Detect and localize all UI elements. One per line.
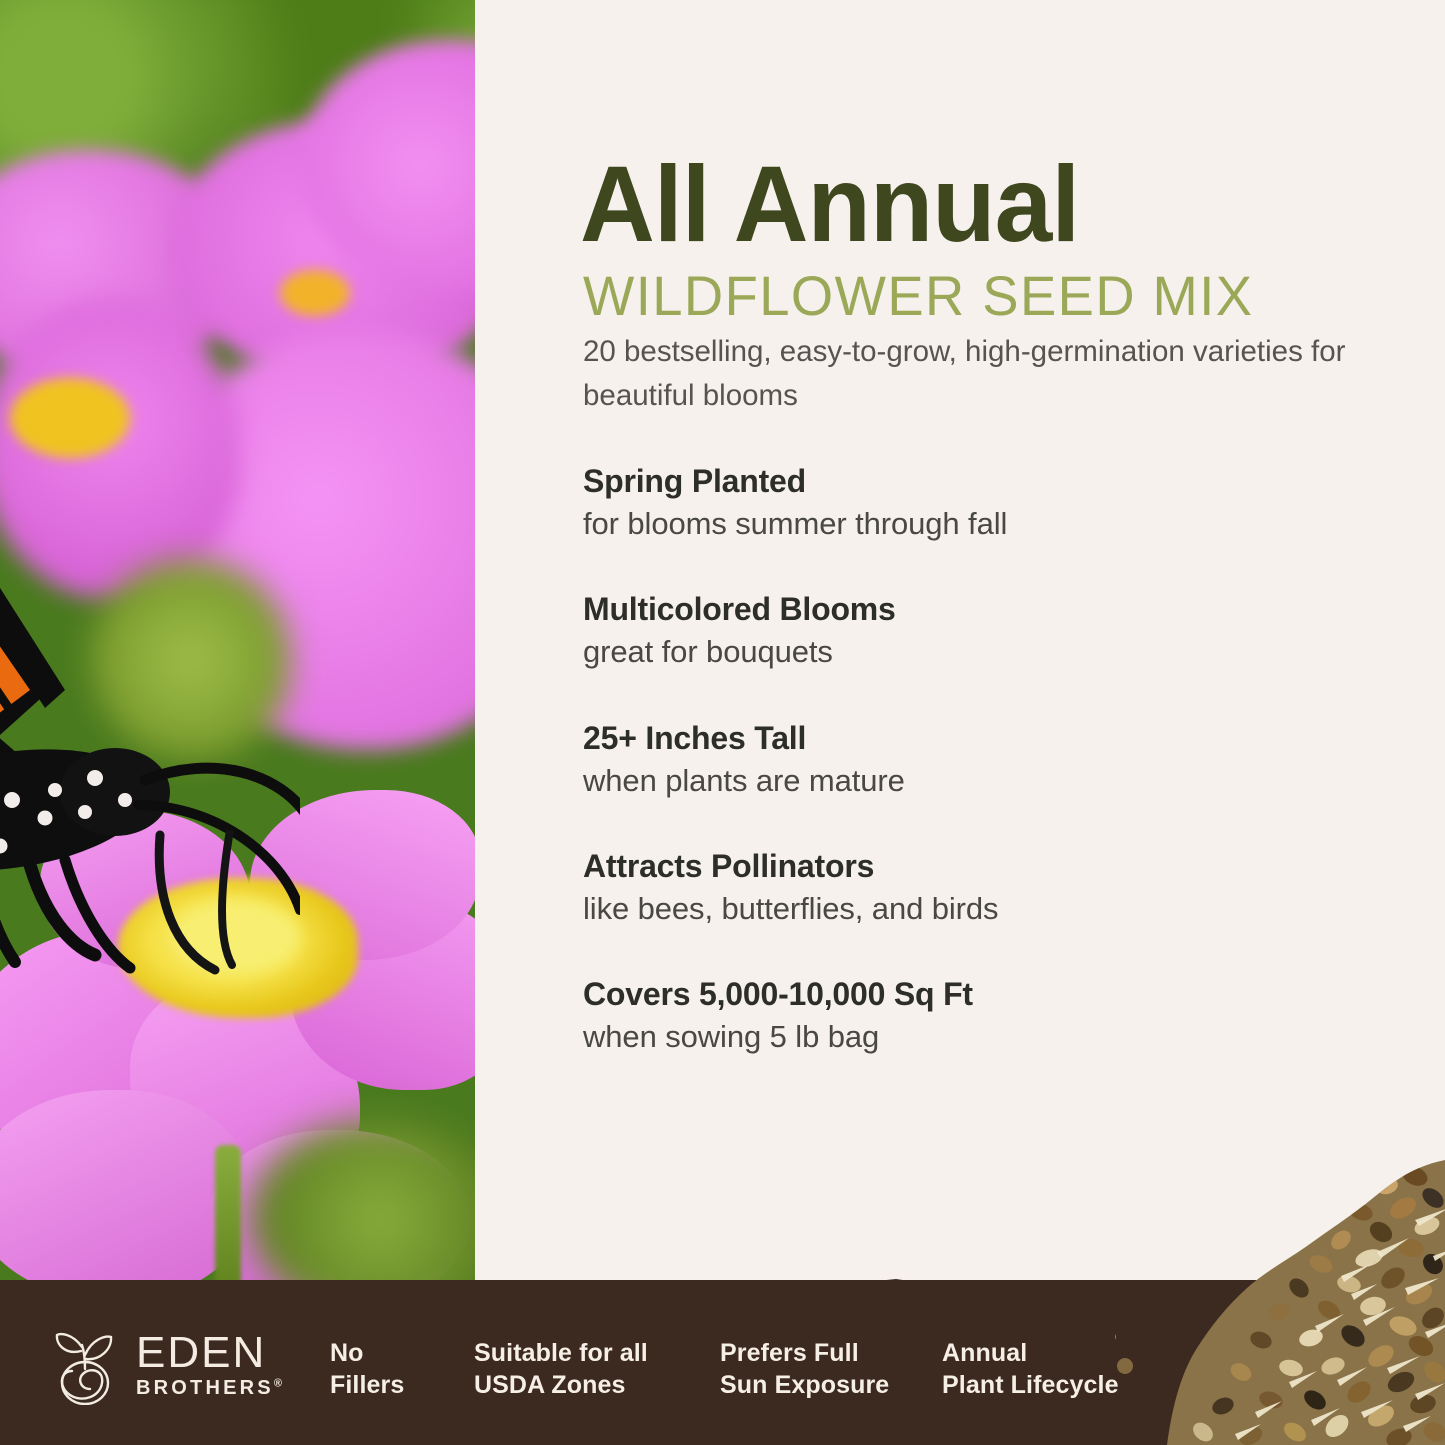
page-title: All Annual: [580, 150, 1386, 258]
footer-badge: Prefers Full Sun Exposure: [720, 1337, 889, 1401]
footer-badge: Annual Plant Lifecycle: [942, 1337, 1119, 1401]
registered-mark: ®: [274, 1377, 282, 1389]
badge-line-2: Fillers: [330, 1369, 404, 1401]
feature-item: Attracts Pollinators like bees, butterfl…: [583, 847, 1363, 929]
badge-line-2: USDA Zones: [474, 1369, 648, 1401]
feature-heading: Covers 5,000-10,000 Sq Ft: [583, 975, 1363, 1014]
brand-subname-text: BROTHERS: [136, 1377, 274, 1399]
badge-line-2: Plant Lifecycle: [942, 1369, 1119, 1401]
feature-subtext: great for bouquets: [583, 632, 1363, 672]
feature-heading: Multicolored Blooms: [583, 590, 1363, 629]
badge-line-1: No: [330, 1339, 364, 1367]
badge-line-1: Prefers Full: [720, 1339, 859, 1367]
feature-item: Multicolored Blooms great for bouquets: [583, 590, 1363, 672]
feature-heading: 25+ Inches Tall: [583, 719, 1363, 758]
product-infographic: All Annual WILDFLOWER SEED MIX 20 bestse…: [0, 0, 1445, 1445]
feature-item: Spring Planted for blooms summer through…: [583, 462, 1363, 544]
feature-list: Spring Planted for blooms summer through…: [583, 462, 1363, 1058]
footer-badge: Suitable for all USDA Zones: [474, 1337, 648, 1401]
flower-center: [280, 270, 350, 316]
eden-brothers-logo: EDEN BROTHERS®: [48, 1325, 282, 1405]
butterfly-proboscis: [100, 830, 400, 1030]
brand-subname: BROTHERS®: [136, 1377, 282, 1399]
seedling-icon: [48, 1325, 122, 1405]
badge-line-1: Suitable for all: [474, 1339, 648, 1367]
product-description: 20 bestselling, easy-to-grow, high-germi…: [583, 330, 1353, 420]
footer-content: EDEN BROTHERS® No Fillers Suitable for a…: [0, 1295, 1445, 1445]
footer-badge: No Fillers: [330, 1337, 404, 1401]
badge-line-1: Annual: [942, 1339, 1027, 1367]
hero-photo-butterfly-on-cosmos: [0, 0, 475, 1300]
feature-heading: Spring Planted: [583, 462, 1363, 501]
feature-subtext: for blooms summer through fall: [583, 504, 1363, 544]
feature-subtext: when sowing 5 lb bag: [583, 1017, 1363, 1057]
content-panel: All Annual WILDFLOWER SEED MIX 20 bestse…: [475, 0, 1445, 1300]
feature-heading: Attracts Pollinators: [583, 847, 1363, 886]
brand-name: EDEN: [136, 1331, 282, 1374]
page-subtitle: WILDFLOWER SEED MIX: [583, 268, 1417, 324]
brand-wordmark: EDEN BROTHERS®: [136, 1331, 282, 1399]
badge-line-2: Sun Exposure: [720, 1369, 889, 1401]
feature-subtext: when plants are mature: [583, 761, 1363, 801]
footer-bar: EDEN BROTHERS® No Fillers Suitable for a…: [0, 1280, 1445, 1445]
feature-item: Covers 5,000-10,000 Sq Ft when sowing 5 …: [583, 975, 1363, 1057]
feature-subtext: like bees, butterflies, and birds: [583, 889, 1363, 929]
feature-item: 25+ Inches Tall when plants are mature: [583, 719, 1363, 801]
